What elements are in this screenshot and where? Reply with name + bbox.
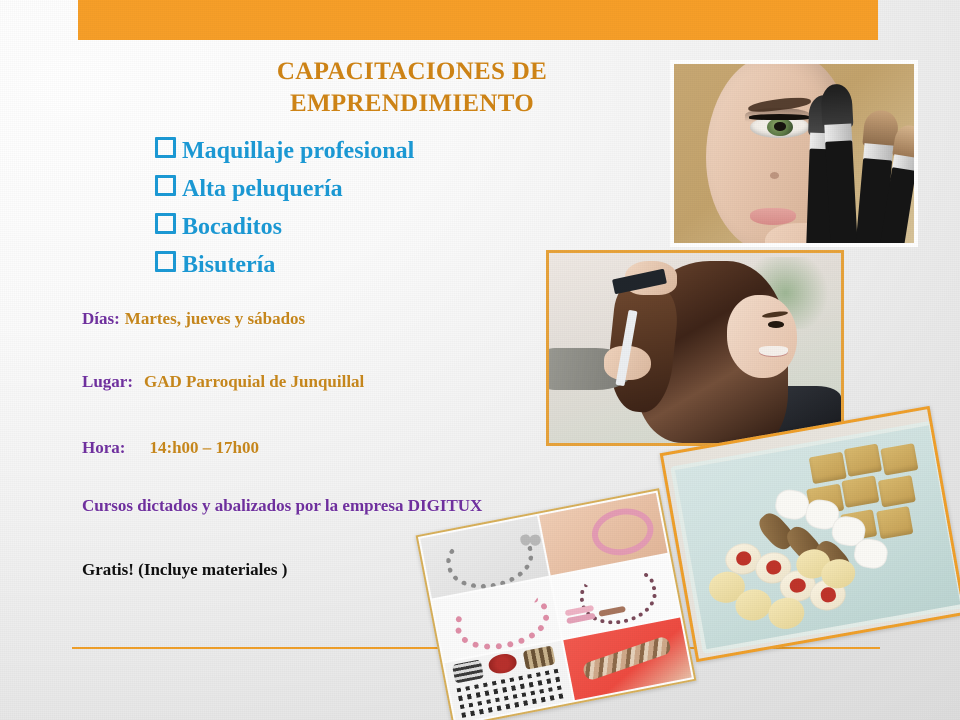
makeup-photo [670, 60, 918, 247]
detail-dias-label: Días: [82, 309, 120, 328]
bracelet-icon [582, 635, 673, 682]
list-item-label: Maquillaje profesional [182, 132, 414, 170]
necklace-icon [575, 563, 661, 630]
detail-dias: Días:Martes, jueves y sábados [82, 309, 305, 329]
checkbox-square-icon [155, 213, 176, 234]
pastry-square [880, 443, 918, 476]
cuff-bracelet-icon [522, 646, 556, 670]
checkbox-square-icon [155, 137, 176, 158]
hairdresser-photo-face [727, 295, 797, 379]
list-item: Maquillaje profesional [155, 132, 615, 170]
pastry-square [878, 475, 916, 508]
list-item-label: Alta peluquería [182, 170, 343, 208]
hairdresser-photo-smile [759, 346, 788, 356]
list-item: Bocaditos [155, 208, 615, 246]
pastry-square [842, 476, 880, 509]
slide-canvas: CAPACITACIONES DE EMPRENDIMIENTO Maquill… [0, 0, 960, 720]
jewelry-photo [416, 488, 697, 720]
title-line-2: EMPRENDIMIENTO [172, 88, 652, 120]
jewelry-collage-grid [420, 493, 691, 720]
hairdresser-photo [546, 250, 844, 446]
detail-cursos: Cursos dictados y abalizados por la empr… [82, 496, 482, 516]
top-orange-banner [78, 0, 878, 40]
title-line-1: CAPACITACIONES DE [172, 56, 652, 88]
cuff-bracelet-icon [487, 652, 519, 675]
makeup-photo-eyelash [749, 114, 810, 119]
pastry-square [876, 506, 914, 539]
list-item-label: Bocaditos [182, 208, 282, 246]
pastry-square [844, 444, 882, 477]
detail-dias-value: Martes, jueves y sábados [125, 309, 305, 328]
checkbox-square-icon [155, 251, 176, 272]
detail-lugar: Lugar:GAD Parroquial de Junquillal [82, 372, 364, 392]
detail-lugar-label: Lugar: [82, 372, 133, 391]
bangle-icon [587, 503, 657, 560]
makeup-photo-lips [750, 208, 796, 224]
detail-hora-value: 14:h00 – 17h00 [149, 438, 259, 457]
makeup-photo-pupil [774, 122, 785, 130]
hairdresser-photo-eye [768, 321, 784, 328]
checkbox-square-icon [155, 175, 176, 196]
list-item-label: Bisutería [182, 246, 275, 284]
page-title: CAPACITACIONES DE EMPRENDIMIENTO [172, 56, 652, 120]
pastry-flower-cookie [852, 536, 890, 570]
cuff-bracelet-icon [452, 660, 484, 683]
list-item: Alta peluquería [155, 170, 615, 208]
detail-hora: Hora:14:h00 – 17h00 [82, 438, 259, 458]
detail-hora-label: Hora: [82, 438, 125, 457]
detail-gratis: Gratis! (Incluye materiales ) [82, 560, 287, 580]
detail-lugar-value: GAD Parroquial de Junquillal [144, 372, 364, 391]
pastry-square [809, 452, 847, 485]
